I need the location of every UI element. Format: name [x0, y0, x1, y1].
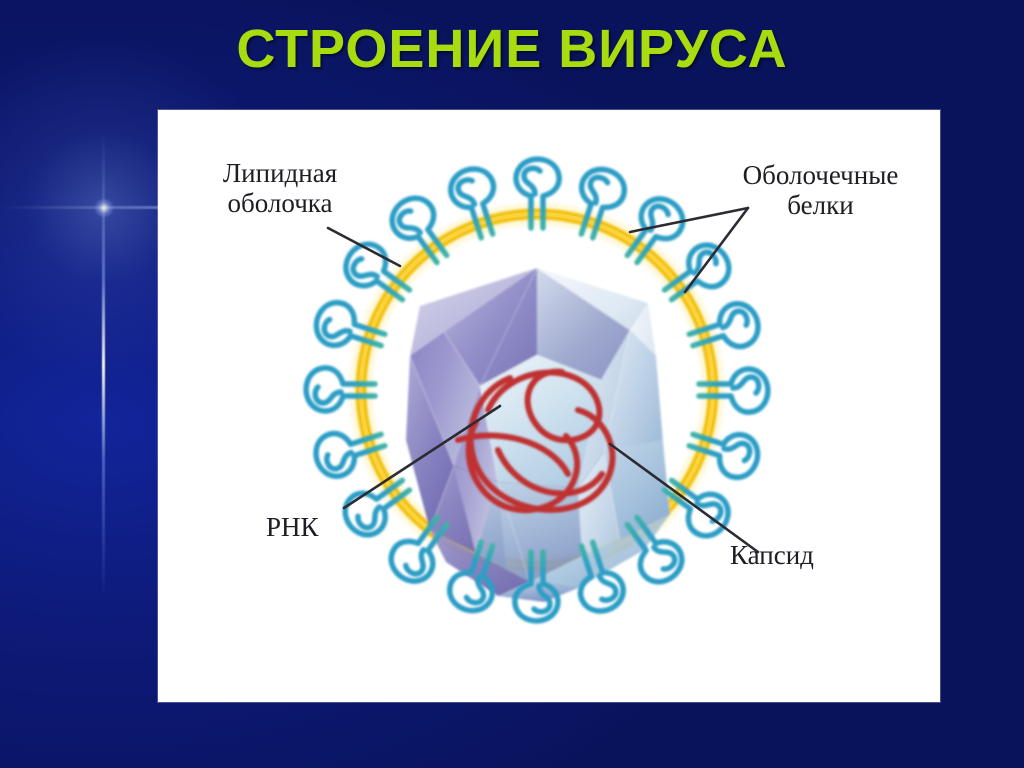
label-lipid-envelope-line2: оболочка: [170, 188, 390, 218]
diagram-panel: Липидная оболочка Оболочечные белки РНК …: [158, 110, 940, 702]
label-envelope-proteins: Оболочечные белки: [703, 160, 938, 220]
label-capsid: Капсид: [730, 540, 814, 570]
label-lipid-envelope: Липидная оболочка: [170, 158, 390, 218]
label-lipid-envelope-line1: Липидная: [223, 158, 337, 188]
slide-title: СТРОЕНИЕ ВИРУСА: [0, 18, 1024, 80]
label-envelope-proteins-line1: Оболочечные: [743, 160, 899, 190]
sparkle-flare-vertical: [102, 130, 105, 600]
label-envelope-proteins-line2: белки: [703, 190, 938, 220]
slide-root: СТРОЕНИЕ ВИРУСА: [0, 0, 1024, 768]
leader-lipid-envelope: [328, 228, 400, 266]
label-rna: РНК: [266, 512, 319, 542]
sparkle-flare-core: [94, 198, 114, 218]
capsid-polyhedron: [406, 268, 670, 602]
